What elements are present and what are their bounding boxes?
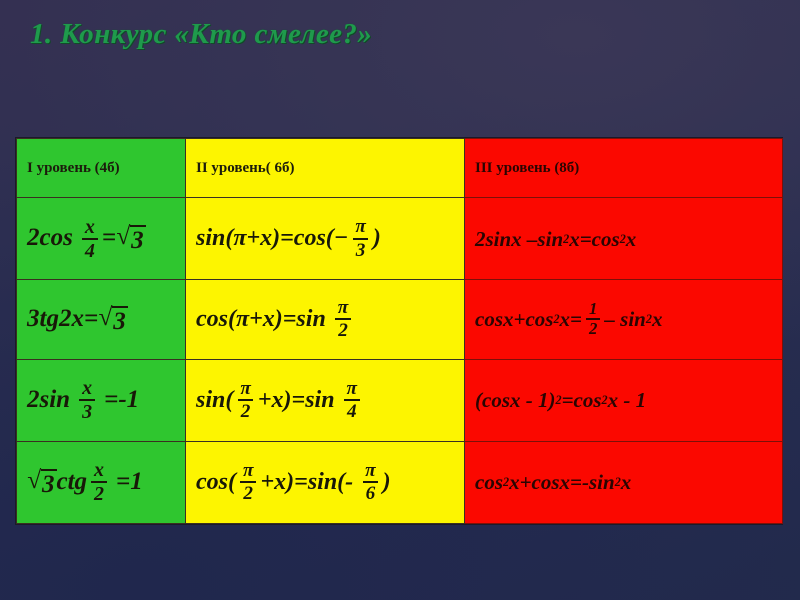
equation-l3-r4: cos2x+cosx=-sin2x xyxy=(475,471,772,493)
equation-l2-r3: sin(π2+x)=sinπ4 xyxy=(196,379,454,421)
fraction: x3 xyxy=(79,378,95,422)
equation-cell-l3-r3[interactable]: (cosx - 1)2=cos2x - 1 xyxy=(465,359,783,441)
equation-l3-r3: (cosx - 1)2=cos2x - 1 xyxy=(475,389,772,411)
equation-l2-r1: sin(π+x)=cos(−π3) xyxy=(196,217,454,259)
column-header-level-1: I уровень (4б) xyxy=(17,139,186,198)
equation-cell-l2-r4[interactable]: cos(π2+x)=sin(-π6) xyxy=(186,441,465,523)
table-header-row: I уровень (4б) II уровень( 6б) III урове… xyxy=(17,139,783,198)
eq-text: = xyxy=(84,306,98,332)
equation-l1-r2: 3tg2x=√3 xyxy=(27,304,175,335)
eq-text: +x)=sin(- xyxy=(260,470,353,495)
equation-cell-l2-r1[interactable]: sin(π+x)=cos(−π3) xyxy=(186,198,465,280)
table-row: 2sinx3=-1 sin(π2+x)=sinπ4 (cosx - 1)2=co… xyxy=(17,359,783,441)
levels-table: I уровень (4б) II уровень( 6б) III урове… xyxy=(16,138,783,524)
table-row: 3tg2x=√3 cos(π+x)=sinπ2 cosx+cos2x=12– s… xyxy=(17,280,783,359)
equation-l1-r1: 2cosx4=√3 xyxy=(27,217,175,261)
fraction: π4 xyxy=(344,379,360,421)
equation-l1-r4: √3ctgx2=1 xyxy=(27,460,175,504)
sqrt-symbol: √3 xyxy=(27,467,57,498)
equation-l3-r1: 2sinx –sin2x=cos2x xyxy=(475,228,772,250)
equation-cell-l2-r2[interactable]: cos(π+x)=sinπ2 xyxy=(186,280,465,359)
equation-l2-r2: cos(π+x)=sinπ2 xyxy=(196,298,454,340)
fraction: 12 xyxy=(586,301,600,339)
eq-text: cos(π+x)=sin xyxy=(196,307,326,332)
eq-text: =-1 xyxy=(104,387,139,413)
equation-cell-l1-r4[interactable]: √3ctgx2=1 xyxy=(17,441,186,523)
eq-text: 2cos xyxy=(27,225,73,251)
eq-text: ) xyxy=(383,470,391,495)
equation-l1-r3: 2sinx3=-1 xyxy=(27,378,175,422)
table-row: 2cosx4=√3 sin(π+x)=cos(−π3) 2sinx –sin2x… xyxy=(17,198,783,280)
eq-text: sin(π+x)=cos(− xyxy=(196,226,348,251)
equation-cell-l3-r1[interactable]: 2sinx –sin2x=cos2x xyxy=(465,198,783,280)
eq-text: 3tg2x xyxy=(27,306,84,332)
fraction: π6 xyxy=(362,461,378,503)
equation-cell-l3-r4[interactable]: cos2x+cosx=-sin2x xyxy=(465,441,783,523)
eq-text: cos( xyxy=(196,470,236,495)
equation-l2-r4: cos(π2+x)=sin(-π6) xyxy=(196,461,454,503)
levels-table-wrapper: I уровень (4б) II уровень( 6б) III урове… xyxy=(16,138,782,524)
equation-l3-r2: cosx+cos2x=12– sin2x xyxy=(475,301,772,339)
slide-canvas: 1. Конкурс «Кто смелее?» I уровень (4б) … xyxy=(0,0,800,600)
eq-text: =1 xyxy=(116,469,143,495)
equation-cell-l1-r1[interactable]: 2cosx4=√3 xyxy=(17,198,186,280)
equation-cell-l1-r3[interactable]: 2sinx3=-1 xyxy=(17,359,186,441)
eq-text: +x)=sin xyxy=(258,388,335,413)
fraction: π2 xyxy=(335,298,351,340)
column-header-level-3: III уровень (8б) xyxy=(465,139,783,198)
eq-text: ctg xyxy=(57,469,88,495)
fraction: x4 xyxy=(82,217,98,261)
eq-text: 2sin xyxy=(27,387,70,413)
fraction: π3 xyxy=(352,217,368,259)
eq-text: sin( xyxy=(196,388,233,413)
fraction: π2 xyxy=(237,379,253,421)
equation-cell-l2-r3[interactable]: sin(π2+x)=sinπ4 xyxy=(186,359,465,441)
eq-text: ) xyxy=(373,226,381,251)
page-title: 1. Конкурс «Кто смелее?» xyxy=(30,18,372,51)
table-row: √3ctgx2=1 cos(π2+x)=sin(-π6) cos2x+cosx=… xyxy=(17,441,783,523)
eq-text: = xyxy=(102,225,116,251)
sqrt-symbol: √3 xyxy=(98,304,128,335)
equation-cell-l3-r2[interactable]: cosx+cos2x=12– sin2x xyxy=(465,280,783,359)
column-header-level-2: II уровень( 6б) xyxy=(186,139,465,198)
equation-cell-l1-r2[interactable]: 3tg2x=√3 xyxy=(17,280,186,359)
sqrt-symbol: √3 xyxy=(116,223,146,254)
fraction: π2 xyxy=(240,461,256,503)
fraction: x2 xyxy=(91,460,107,504)
